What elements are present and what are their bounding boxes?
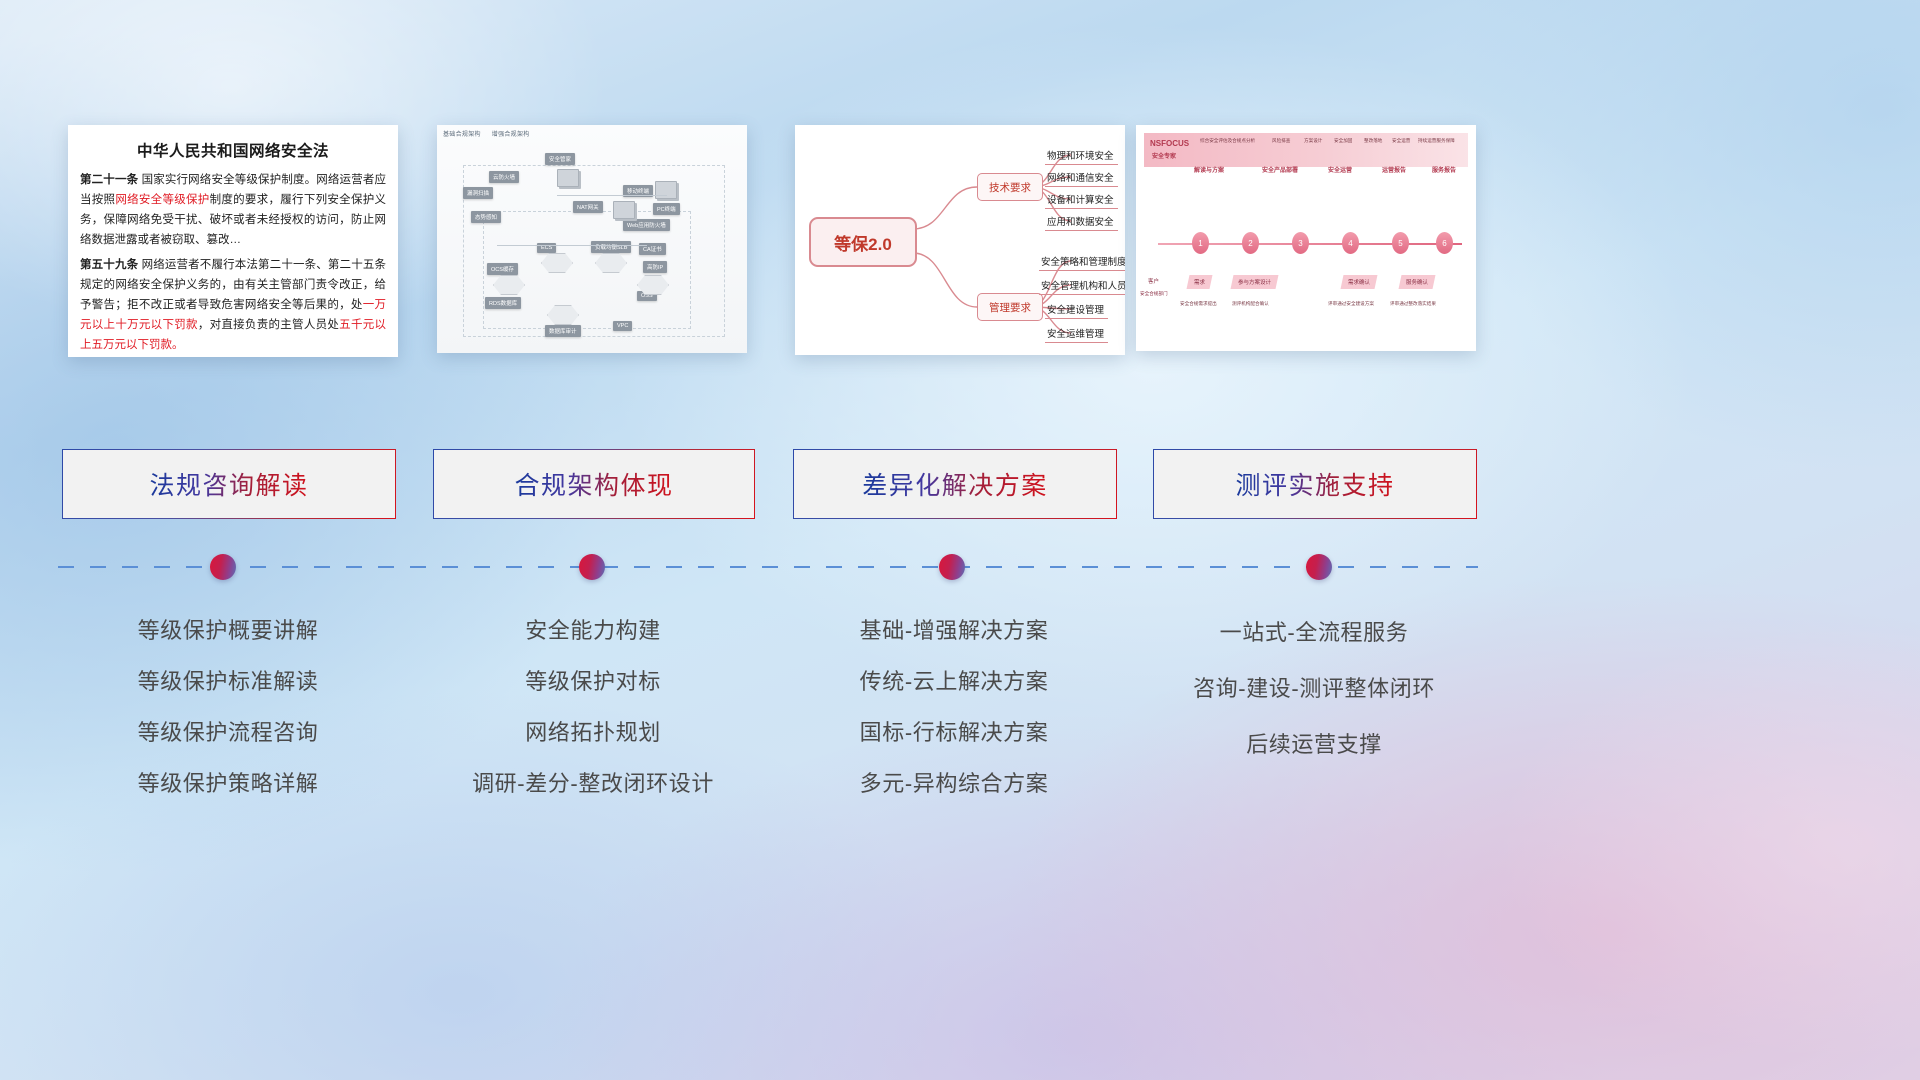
list-item: 后续运营支撑: [1153, 717, 1475, 773]
label-box-differentiated-solutions[interactable]: 差异化解决方案: [793, 449, 1117, 519]
arch-node-tag: 态势感知: [471, 211, 501, 223]
mindmap-leaf: 网络和通信安全: [1047, 170, 1114, 184]
arch-node-tag: 漏洞扫描: [463, 187, 493, 199]
flow-chip-label: 需求确认: [1348, 278, 1370, 286]
arch-header: 基础合规架构 增强合规架构: [443, 129, 539, 138]
label-box-evaluation-support[interactable]: 测评实施支持: [1153, 449, 1477, 519]
column-regulation-consulting: 等级保护概要讲解 等级保护标准解读 等级保护流程咨询 等级保护策略详解: [62, 605, 394, 809]
roadmap-step: 1: [1192, 232, 1209, 254]
flow-sub-label: 评审通过安全建设方案: [1328, 301, 1374, 307]
article-number: 第二十一条: [80, 174, 138, 186]
brand-sub: 安全专家: [1152, 151, 1176, 160]
list-item: 一站式-全流程服务: [1153, 605, 1475, 661]
list-item: 网络拓扑规划: [433, 707, 753, 758]
list-item: 等级保护概要讲解: [62, 605, 394, 656]
list-item: 等级保护流程咨询: [62, 707, 394, 758]
card-dengbao-mindmap[interactable]: 等保2.0 技术要求 管理要求 物理和环境安全 网络和通信安全 设备和计算安全 …: [795, 125, 1125, 355]
label-text: 差异化解决方案: [862, 466, 1048, 502]
label-text: 测评实施支持: [1235, 466, 1394, 502]
arch-node-tag: PC终端: [653, 203, 680, 215]
timeline-dot-2[interactable]: [579, 554, 605, 580]
law-article-21: 第二十一条 国家实行网络安全等级保护制度。网络运营者应当按照网络安全等级保护制度…: [80, 170, 386, 250]
flow-chip: 需求确认: [1341, 275, 1378, 289]
list-item: 安全能力构建: [433, 605, 753, 656]
stage-label: 安全产品部署: [1262, 165, 1298, 174]
article-number: 第五十九条: [80, 259, 138, 271]
mindmap-root: 等保2.0: [809, 217, 917, 267]
banner-tag: 方案设计: [1304, 138, 1322, 144]
banner-tag: 安全运营: [1392, 138, 1410, 144]
arch-node-tag: NAT网关: [573, 201, 603, 213]
list-item: 多元-异构综合方案: [793, 758, 1115, 809]
stage-label: 解读与方案: [1194, 165, 1224, 174]
flow-chip-label: 服务确认: [1406, 278, 1428, 286]
roadmap-step: 2: [1242, 232, 1259, 254]
arch-node-tag: Web应用防火墙: [623, 219, 670, 231]
list-item: 咨询-建设-测评整体闭环: [1153, 661, 1475, 717]
arch-node-tag: 数据库审计: [545, 325, 581, 337]
flow-chip: 服务确认: [1399, 275, 1436, 289]
stage-label: 安全运营: [1328, 165, 1352, 174]
timeline-dot-1[interactable]: [210, 554, 236, 580]
label-box-row: 法规咨询解读 合规架构体现 差异化解决方案 测评实施支持: [0, 449, 1920, 519]
banner-tag: 持续运营服务保障: [1418, 138, 1455, 144]
stage-label: 服务报告: [1432, 165, 1456, 174]
card-compliance-architecture[interactable]: 基础合规架构 增强合规架构 安全管家 云防火墙 漏洞扫描 态势感知 移动终端 P…: [437, 125, 747, 353]
flow-sub-label: 安全合规需求提出: [1180, 301, 1217, 307]
arch-server-icon: [557, 169, 579, 187]
mindmap-leaf: 安全策略和管理制度: [1041, 254, 1125, 268]
timeline-dot-4[interactable]: [1306, 554, 1332, 580]
roadmap-step: 6: [1436, 232, 1453, 254]
banner-tag: 安全加固: [1334, 138, 1352, 144]
column-differentiated-solutions: 基础-增强解决方案 传统-云上解决方案 国标-行标解决方案 多元-异构综合方案: [793, 605, 1115, 809]
brand-name: NSFOCUS: [1150, 139, 1189, 148]
actor-sub: 安全合规部门: [1140, 291, 1168, 297]
mindmap-leaf: 设备和计算安全: [1047, 192, 1114, 206]
mindmap-leaf: 安全运维管理: [1047, 326, 1104, 340]
mindmap-branch-management: 管理要求: [977, 293, 1043, 321]
flow-chip: 参与方案设计: [1231, 275, 1279, 289]
timeline-dot-3[interactable]: [939, 554, 965, 580]
law-title: 中华人民共和国网络安全法: [80, 139, 386, 161]
label-box-regulation-consulting[interactable]: 法规咨询解读: [62, 449, 396, 519]
image-card-row: 中华人民共和国网络安全法 第二十一条 国家实行网络安全等级保护制度。网络运营者应…: [0, 125, 1920, 365]
card-nsfocus-roadmap[interactable]: NSFOCUS 安全专家 综合安全评估及合规点分析 风险排查 方案设计 安全加固…: [1136, 125, 1476, 351]
mindmap-leaf: 应用和数据安全: [1047, 214, 1114, 228]
mindmap-leaf: 安全管理机构和人员: [1041, 278, 1125, 292]
arch-node-tag: 云防火墙: [489, 171, 519, 183]
list-item: 等级保护策略详解: [62, 758, 394, 809]
arch-connector: [497, 245, 647, 246]
card-cybersecurity-law[interactable]: 中华人民共和国网络安全法 第二十一条 国家实行网络安全等级保护制度。网络运营者应…: [68, 125, 398, 357]
list-item: 国标-行标解决方案: [793, 707, 1115, 758]
label-text: 合规架构体现: [514, 466, 673, 502]
roadmap-step: 5: [1392, 232, 1409, 254]
roadmap-step: 3: [1292, 232, 1309, 254]
column-compliance-architecture: 安全能力构建 等级保护对标 网络拓扑规划 调研-差分-整改闭环设计: [433, 605, 753, 809]
list-item: 等级保护对标: [433, 656, 753, 707]
arch-connector: [557, 195, 667, 196]
timeline-dashed-line: [58, 566, 1478, 568]
mindmap-leaf: 物理和环境安全: [1047, 148, 1114, 162]
list-item: 调研-差分-整改闭环设计: [433, 758, 753, 809]
flow-sub-label: 测评机构配合确认: [1232, 301, 1269, 307]
arch-server-icon: [613, 201, 635, 219]
list-item: 基础-增强解决方案: [793, 605, 1115, 656]
list-item: 等级保护标准解读: [62, 656, 394, 707]
banner-tag: 综合安全评估及合规点分析: [1200, 138, 1255, 144]
mindmap-leaf: 安全建设管理: [1047, 302, 1104, 316]
roadmap-step: 4: [1342, 232, 1359, 254]
list-item: 传统-云上解决方案: [793, 656, 1115, 707]
article-run-highlight: 网络安全等级保护: [115, 194, 209, 206]
flow-chip-label: 需求: [1194, 278, 1205, 286]
arch-node-tag: OCS缓存: [487, 263, 518, 275]
arch-node-tag: VPC: [613, 321, 632, 331]
label-text: 法规咨询解读: [149, 466, 308, 502]
article-run: ，对直接负责的主管人员处: [198, 319, 339, 331]
mindmap-branch-technical: 技术要求: [977, 173, 1043, 201]
actor-label: 客户: [1148, 277, 1159, 285]
arch-node-tag: RDS数据库: [485, 297, 521, 309]
flow-chip: 需求: [1187, 275, 1213, 289]
arch-header-tag: 基础合规架构: [443, 132, 481, 138]
banner-tag: 风险排查: [1272, 138, 1290, 144]
column-evaluation-support: 一站式-全流程服务 咨询-建设-测评整体闭环 后续运营支撑: [1153, 605, 1475, 773]
label-box-compliance-architecture[interactable]: 合规架构体现: [433, 449, 755, 519]
arch-node-tag: 安全管家: [545, 153, 575, 165]
flow-sub-label: 评审通过整改落实结果: [1390, 301, 1436, 307]
stage-label: 运营报告: [1382, 165, 1406, 174]
arch-node-tag: 高防IP: [643, 261, 667, 273]
flow-chip-label: 参与方案设计: [1238, 278, 1271, 286]
arch-node-tag: 负载均衡SLB: [591, 241, 631, 253]
banner-tag: 整改落地: [1364, 138, 1382, 144]
arch-header-tag: 增强合规架构: [492, 132, 530, 138]
law-article-59: 第五十九条 网络运营者不履行本法第二十一条、第二十五条规定的网络安全保护义务的，…: [80, 255, 386, 355]
arch-server-icon: [655, 181, 677, 199]
